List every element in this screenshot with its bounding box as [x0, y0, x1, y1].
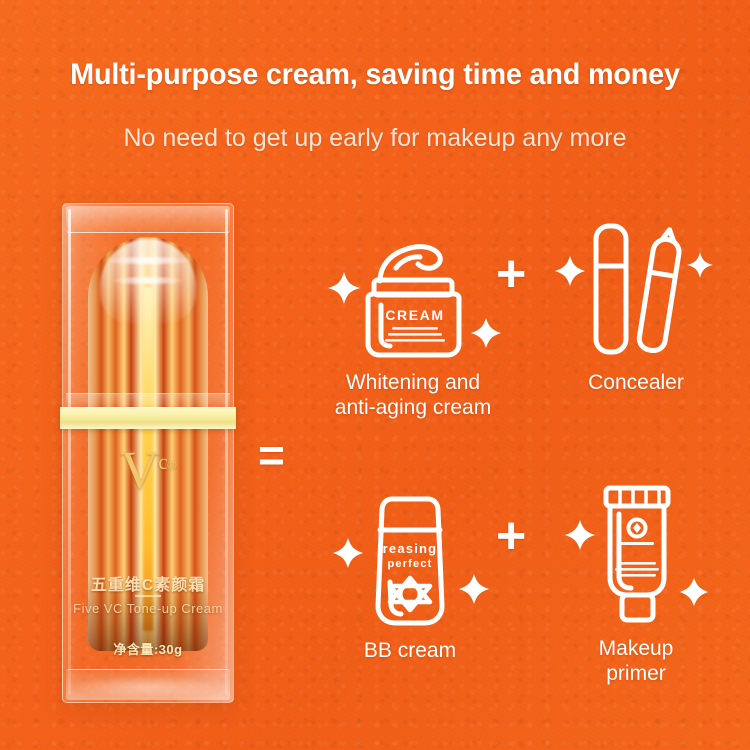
benefit-label-makeup-primer: Makeup primer [548, 636, 724, 686]
brand-logo-c: c [158, 449, 167, 474]
benefit-concealer: Concealer [548, 212, 724, 395]
label-divider [135, 595, 161, 597]
label-line-2: primer [548, 661, 724, 686]
equals-sign: = [258, 432, 285, 478]
net-weight-label: 净含量:30g [62, 639, 234, 658]
label-line-1: BB cream [322, 638, 498, 663]
concealer-stick-upright [596, 226, 626, 352]
jar-sub-line-1 [392, 327, 438, 330]
product-package: Vc® 五重维C素颜霜 Five VC Tone-up Cream 净含量:30… [62, 203, 234, 703]
tube-logo-icon [629, 520, 646, 537]
sunburst-emblem [390, 578, 430, 610]
benefit-bb-cream: reasing perfect BB cream [322, 486, 498, 663]
tube-ring-lower [112, 277, 184, 284]
benefit-makeup-primer: Makeup primer [548, 474, 724, 686]
product-name-cn: 五重维C素颜霜 [62, 571, 234, 595]
cream-jar-icon: CREAM [318, 226, 508, 364]
label-line-1: Whitening and [318, 370, 508, 395]
jar-sub-line-3 [385, 339, 445, 342]
jar-sub-line-2 [388, 333, 442, 336]
tube-cap [622, 595, 653, 620]
benefit-label-whitening-cream: Whitening and anti-aging cream [318, 370, 508, 420]
label-line-1: Makeup [548, 636, 724, 661]
benefit-whitening-cream: CREAM Whitening and anti-aging cream [318, 226, 508, 420]
concealer-sticks-icon [548, 212, 724, 364]
plus-sign-bottom: + [496, 510, 526, 562]
registered-mark-icon: ® [167, 457, 176, 472]
benefit-label-concealer: Concealer [548, 370, 724, 395]
page-title: Multi-purpose cream, saving time and mon… [15, 58, 735, 92]
concealer-stick-tilted [638, 238, 681, 353]
gold-band [60, 407, 236, 429]
brand-logo-v: V [120, 440, 158, 500]
product-name-en: Five VC Tone-up Cream [62, 601, 234, 617]
label-line-2: anti-aging cream [318, 395, 508, 420]
primer-tube-icon [548, 474, 724, 630]
tube-text-line-2 [618, 562, 656, 565]
tube-text-line-3 [615, 568, 659, 571]
promo-banner: Multi-purpose cream, saving time and mon… [0, 0, 750, 750]
bb-cream-bottle-icon: reasing perfect [322, 486, 498, 632]
jar-label-text: CREAM [385, 307, 444, 323]
tube-text-line-1 [620, 542, 654, 545]
bb-bottle-text-1: reasing [383, 541, 438, 556]
tube-ring-upper [105, 257, 191, 264]
benefit-label-bb-cream: BB cream [322, 638, 498, 663]
page-subtitle: No need to get up early for makeup any m… [0, 124, 750, 153]
bb-bottle-text-2: perfect [387, 558, 432, 570]
box-top-face [66, 206, 230, 233]
label-line-1: Concealer [548, 370, 724, 395]
brand-logo: Vc® [62, 443, 234, 497]
tube-text-line-4 [618, 574, 656, 577]
package-reflection [70, 675, 226, 699]
